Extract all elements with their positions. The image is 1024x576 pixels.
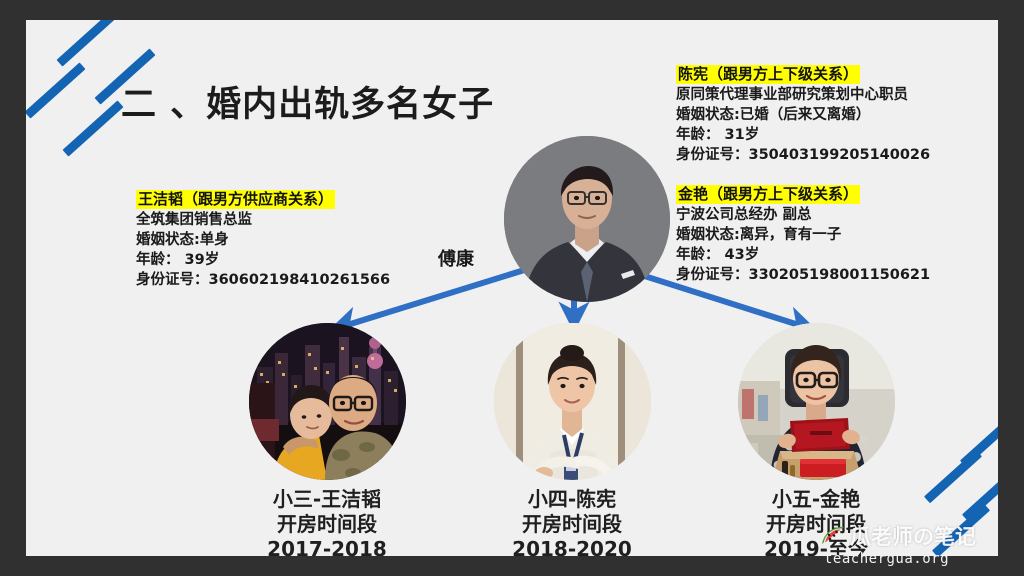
watermelon-icon [820,523,846,549]
info-line: 婚姻状态:单身 [136,230,390,250]
caption-line-3: 2017-2018 [197,537,457,556]
photo-wang-jietao [249,323,406,480]
watermark-url: teachergua.org [820,551,1005,567]
info-line: 全筑集团销售总监 [136,210,390,230]
caption-chen: 小四-陈宪 开房时间段 2018-2020 [442,487,702,556]
photo-center-fukang [504,136,670,302]
info-heading-chen: 陈宪（跟男方上下级关系） [676,65,860,84]
info-line: 年龄： 39岁 [136,250,390,270]
page-title: 二 、婚内出轨多名女子 [121,76,494,127]
info-line: 身份证号：330205198001150621 [676,265,930,285]
slide-canvas: 二 、婚内出轨多名女子 [26,20,998,556]
watermark: 瓜老师の笔记 teachergua.org [820,522,1005,572]
photo-chen-xian [494,323,651,480]
caption-wang: 小三-王洁韬 开房时间段 2017-2018 [197,487,457,556]
decor-stripe [26,62,86,118]
caption-line-1: 小五-金艳 [686,487,946,512]
info-line: 身份证号：360602198410261566 [136,270,390,290]
caption-line-2: 开房时间段 [442,512,702,537]
decor-stripe [56,20,117,67]
center-person-label: 傅康 [438,245,474,271]
info-line: 宁波公司总经办 副总 [676,205,930,225]
info-line: 年龄： 31岁 [676,125,930,145]
info-heading-jin: 金艳（跟男方上下级关系） [676,185,860,204]
info-heading-wang: 王洁韬（跟男方供应商关系） [136,190,335,209]
info-line: 原同策代理事业部研究策划中心职员 [676,85,930,105]
watermark-name: 瓜老师の笔记 [850,521,976,551]
caption-line-1: 小四-陈宪 [442,487,702,512]
info-block-jin: 金艳（跟男方上下级关系） 宁波公司总经办 副总 婚姻状态:离异，育有一子 年龄：… [676,184,930,285]
caption-line-3: 2018-2020 [442,537,702,556]
decor-stripe [62,100,123,156]
info-line: 婚姻状态:离异，育有一子 [676,225,930,245]
info-line: 年龄： 43岁 [676,245,930,265]
caption-line-2: 开房时间段 [197,512,457,537]
caption-line-1: 小三-王洁韬 [197,487,457,512]
info-line: 身份证号：350403199205140026 [676,145,930,165]
info-block-wang: 王洁韬（跟男方供应商关系） 全筑集团销售总监 婚姻状态:单身 年龄： 39岁 身… [136,189,390,290]
info-block-chen: 陈宪（跟男方上下级关系） 原同策代理事业部研究策划中心职员 婚姻状态:已婚（后来… [676,64,930,165]
photo-jin-yan [738,323,895,480]
slide-frame: 二 、婚内出轨多名女子 [0,0,1024,576]
info-line: 婚姻状态:已婚（后来又离婚） [676,105,930,125]
